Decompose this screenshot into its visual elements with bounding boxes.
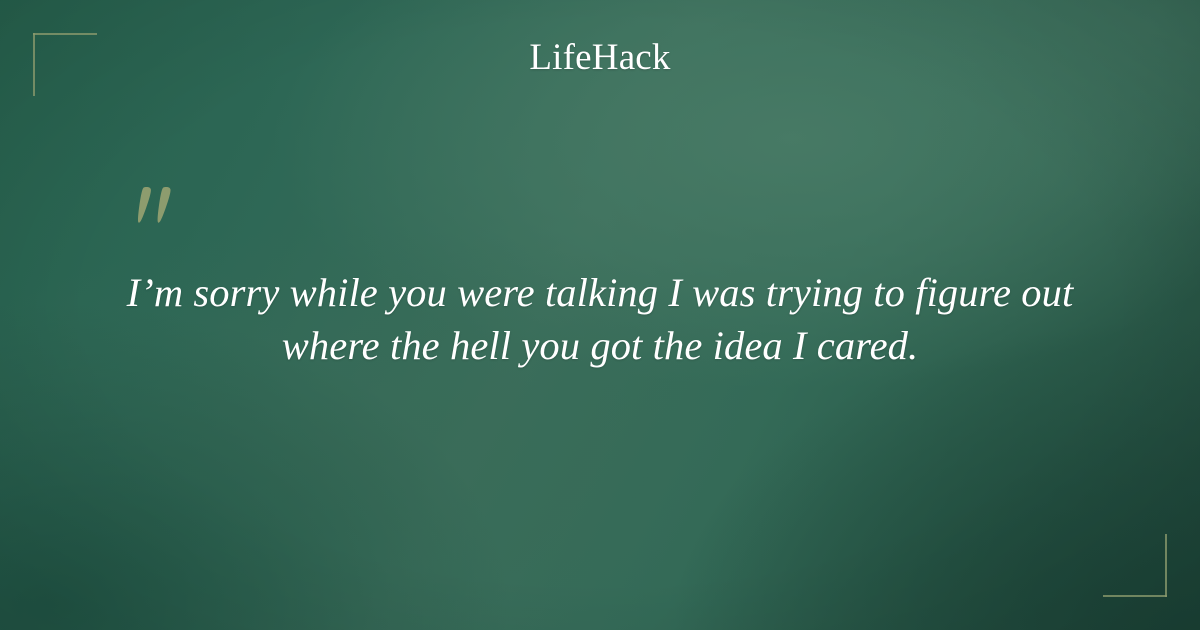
quote-mark-icon xyxy=(131,181,201,245)
corner-bracket-right-line xyxy=(1165,534,1167,597)
brand-logo: LifeHack xyxy=(0,39,1200,76)
quote-card: LifeHack I’m sorry while you were talkin… xyxy=(0,0,1200,630)
quote-line: I’m sorry while you were talking I was t… xyxy=(80,266,1120,319)
corner-bracket-bottom-line xyxy=(1103,595,1167,597)
quote-line: where the hell you got the idea I cared. xyxy=(80,319,1120,372)
corner-bracket-bottom-right-icon xyxy=(1103,534,1167,597)
corner-bracket-top-line xyxy=(33,33,97,35)
quote-text: I’m sorry while you were talking I was t… xyxy=(80,266,1120,372)
